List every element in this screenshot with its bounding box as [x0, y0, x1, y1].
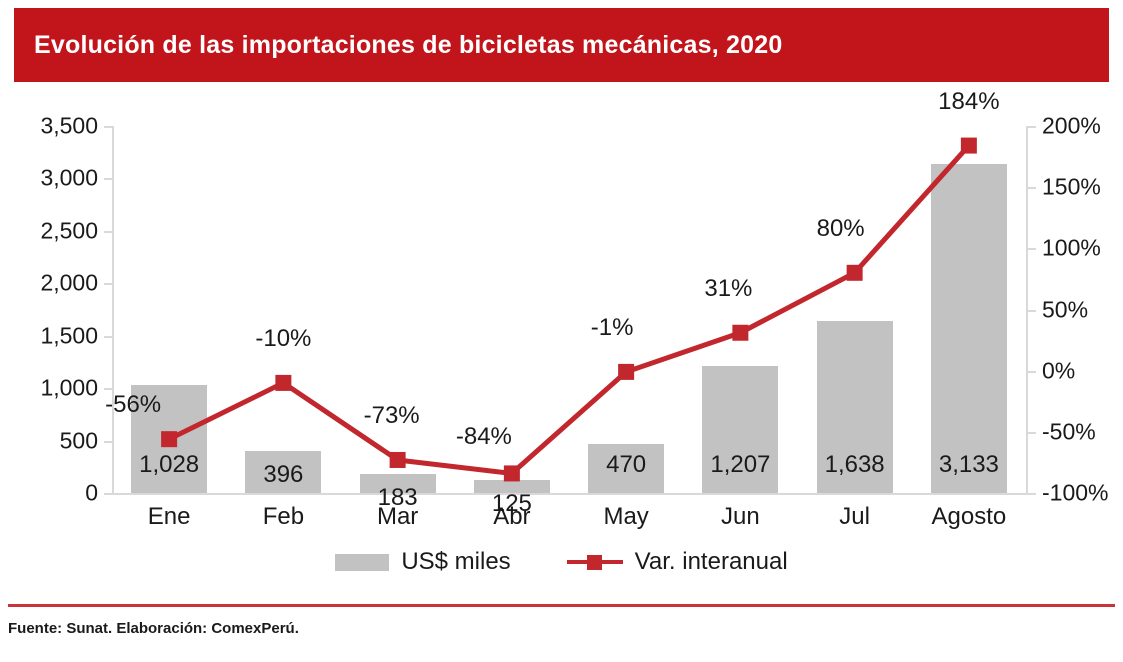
pct-label-abr: -84%: [456, 423, 512, 451]
line-marker-jul[interactable]: [847, 265, 863, 281]
x-label-jul: Jul: [839, 503, 870, 531]
pct-label-mar: -73%: [364, 402, 420, 430]
x-label-ene: Ene: [148, 503, 191, 531]
y-axis-right-label: 100%: [1042, 235, 1123, 262]
x-label-mar: Mar: [377, 503, 418, 531]
bar-value-ene: 1,028: [139, 451, 199, 479]
y-axis-left-line: [112, 126, 114, 494]
chart-canvas: 05001,0001,5002,0002,5003,0003,500 -100%…: [0, 88, 1123, 588]
y-axis-left-tick: [104, 388, 112, 390]
legend-item-bars[interactable]: US$ miles: [335, 548, 510, 576]
y-axis-right-label: 0%: [1042, 357, 1123, 384]
chart-legend: US$ miles Var. interanual: [0, 548, 1123, 576]
source-note: Fuente: Sunat. Elaboración: ComexPerú.: [8, 620, 299, 637]
line-marker-agosto[interactable]: [961, 138, 977, 154]
y-axis-left-tick: [104, 178, 112, 180]
x-label-agosto: Agosto: [932, 503, 1007, 531]
title-band: Evolución de las importaciones de bicicl…: [14, 8, 1109, 82]
pct-label-feb: -10%: [255, 325, 311, 353]
y-axis-right-tick: [1028, 187, 1036, 189]
y-axis-left-label: 2,500: [6, 217, 98, 244]
x-label-feb: Feb: [263, 503, 304, 531]
y-axis-left-tick: [104, 441, 112, 443]
y-axis-right-tick: [1028, 493, 1036, 495]
y-axis-left-label: 1,000: [6, 375, 98, 402]
y-axis-left-tick: [104, 126, 112, 128]
bar-value-feb: 396: [263, 461, 303, 489]
y-axis-left-label: 1,500: [6, 322, 98, 349]
y-axis-left-label: 0: [6, 480, 98, 507]
y-axis-right-label: 50%: [1042, 296, 1123, 323]
y-axis-right-tick: [1028, 371, 1036, 373]
bar-value-jul: 1,638: [825, 451, 885, 479]
x-label-jun: Jun: [721, 503, 760, 531]
y-axis-right-tick: [1028, 126, 1036, 128]
pct-label-jul: 80%: [817, 215, 865, 243]
bar-value-jun: 1,207: [710, 451, 770, 479]
y-axis-left-tick: [104, 283, 112, 285]
x-label-abr: Abr: [493, 503, 530, 531]
line-marker-may[interactable]: [618, 364, 634, 380]
y-axis-right-label: 200%: [1042, 113, 1123, 140]
y-axis-left-label: 3,000: [6, 165, 98, 192]
chart-page: Evolución de las importaciones de bicicl…: [0, 0, 1123, 662]
line-marker-mar[interactable]: [390, 452, 406, 468]
y-axis-right-tick: [1028, 248, 1036, 250]
page-title: Evolución de las importaciones de bicicl…: [14, 31, 782, 60]
y-axis-left-tick: [104, 231, 112, 233]
line-marker-feb[interactable]: [275, 375, 291, 391]
y-axis-left-label: 3,500: [6, 113, 98, 140]
y-axis-right-tick: [1028, 432, 1036, 434]
y-axis-left-tick: [104, 493, 112, 495]
legend-item-line[interactable]: Var. interanual: [567, 548, 788, 576]
x-label-may: May: [603, 503, 648, 531]
y-axis-right-label: 150%: [1042, 174, 1123, 201]
pct-label-may: -1%: [591, 314, 634, 342]
bar-agosto[interactable]: [931, 164, 1007, 493]
y-axis-right-label: -50%: [1042, 418, 1123, 445]
line-swatch-icon: [567, 553, 623, 571]
pct-label-agosto: 184%: [938, 88, 999, 116]
y-axis-right-label: -100%: [1042, 480, 1123, 507]
x-axis-line: [112, 493, 1028, 495]
y-axis-left-label: 2,000: [6, 270, 98, 297]
legend-label-line: Var. interanual: [635, 548, 788, 576]
pct-label-jun: 31%: [704, 275, 752, 303]
y-axis-left-tick: [104, 336, 112, 338]
y-axis-left-label: 500: [6, 427, 98, 454]
y-axis-right-tick: [1028, 310, 1036, 312]
bar-swatch-icon: [335, 554, 389, 571]
pct-label-ene: -56%: [105, 391, 161, 419]
bar-value-agosto: 3,133: [939, 451, 999, 479]
footer-divider: [8, 604, 1115, 607]
line-marker-jun[interactable]: [732, 325, 748, 341]
bar-value-may: 470: [606, 451, 646, 479]
legend-label-bars: US$ miles: [401, 548, 510, 576]
